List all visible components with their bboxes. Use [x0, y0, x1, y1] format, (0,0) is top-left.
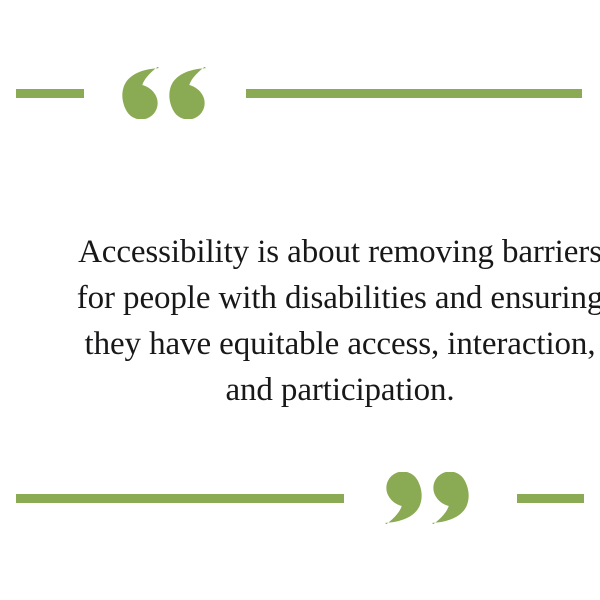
quote-text: Accessibility is about removing barriers…	[40, 229, 600, 413]
quote-card: Accessibility is about removing barriers…	[0, 0, 600, 600]
quote-line: Accessibility is about removing barriers	[58, 229, 600, 275]
opening-double-quote-icon	[122, 66, 206, 120]
bottom-right-short-rule	[517, 494, 584, 503]
top-ornament-row	[0, 58, 600, 128]
quote-line: for people with disabilities and ensurin…	[58, 275, 600, 321]
quote-line: and participation.	[58, 367, 600, 413]
top-right-long-rule	[246, 89, 582, 98]
bottom-left-long-rule	[16, 494, 344, 503]
bottom-ornament-row	[0, 463, 600, 533]
top-left-short-rule	[16, 89, 84, 98]
closing-double-quote-icon	[385, 471, 469, 525]
quote-line: they have equitable access, interaction,	[58, 321, 600, 367]
